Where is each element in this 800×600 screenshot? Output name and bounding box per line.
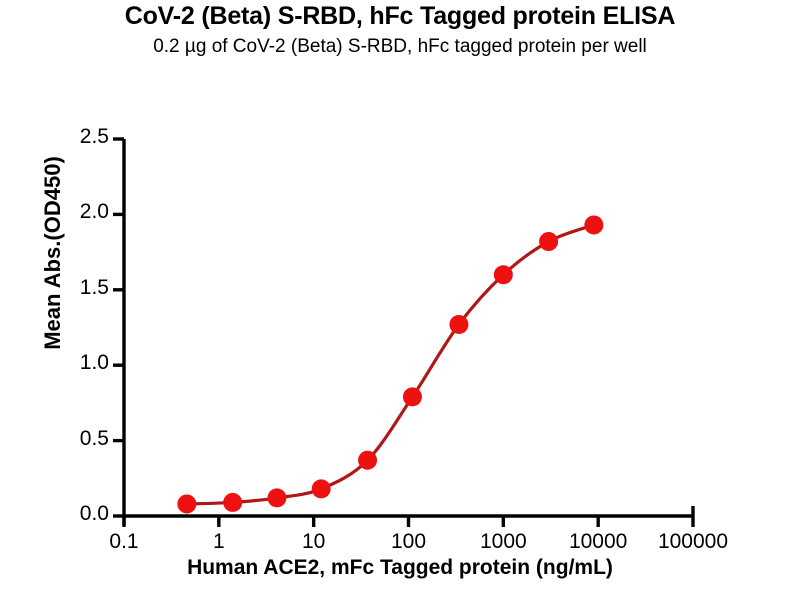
x-tick-label: 100000 — [633, 530, 753, 554]
plot-area — [0, 0, 800, 600]
y-tick-label: 0.0 — [51, 502, 109, 526]
data-point-marker[interactable] — [177, 494, 196, 513]
data-series-line — [187, 225, 594, 504]
y-tick-label: 2.0 — [51, 200, 109, 224]
data-point-marker[interactable] — [358, 451, 377, 470]
data-point-marker[interactable] — [539, 232, 558, 251]
y-tick-label: 0.5 — [51, 427, 109, 451]
data-point-marker[interactable] — [449, 315, 468, 334]
y-tick-label: 2.5 — [51, 125, 109, 149]
elisa-chart-figure: CoV-2 (Beta) S-RBD, hFc Tagged protein E… — [0, 0, 800, 600]
data-point-marker[interactable] — [403, 387, 422, 406]
data-point-marker[interactable] — [223, 493, 242, 512]
data-point-marker[interactable] — [584, 215, 603, 234]
y-tick-label: 1.5 — [51, 276, 109, 300]
data-point-marker[interactable] — [267, 488, 286, 507]
y-tick-label: 1.0 — [51, 351, 109, 375]
data-point-marker[interactable] — [494, 265, 513, 284]
data-point-marker[interactable] — [312, 479, 331, 498]
